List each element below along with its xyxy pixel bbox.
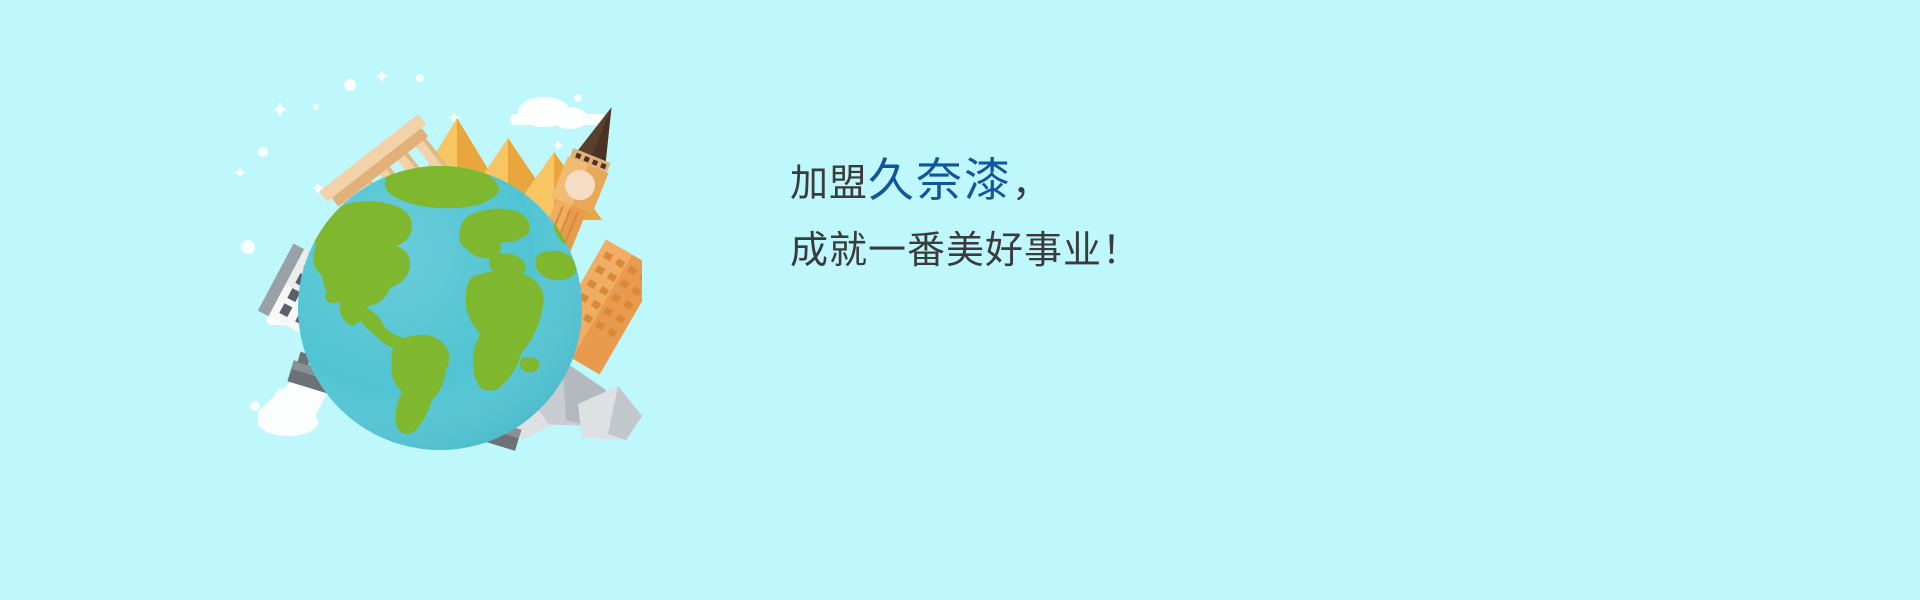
world-globe-landmarks-illustration	[222, 60, 642, 460]
cloud-top-right	[510, 97, 606, 129]
headline-block: 加盟久奈漆， 成就一番美好事业！	[790, 148, 1490, 279]
headline-prefix: 加盟	[790, 163, 868, 205]
headline-comma: ，	[1012, 163, 1051, 205]
headline-line-2: 成就一番美好事业！	[790, 225, 1490, 279]
promo-banner: 加盟久奈漆， 成就一番美好事业！	[0, 0, 1920, 600]
headline-line-1: 加盟久奈漆，	[790, 148, 1490, 213]
headline-brand-name: 久奈漆	[868, 154, 1012, 206]
